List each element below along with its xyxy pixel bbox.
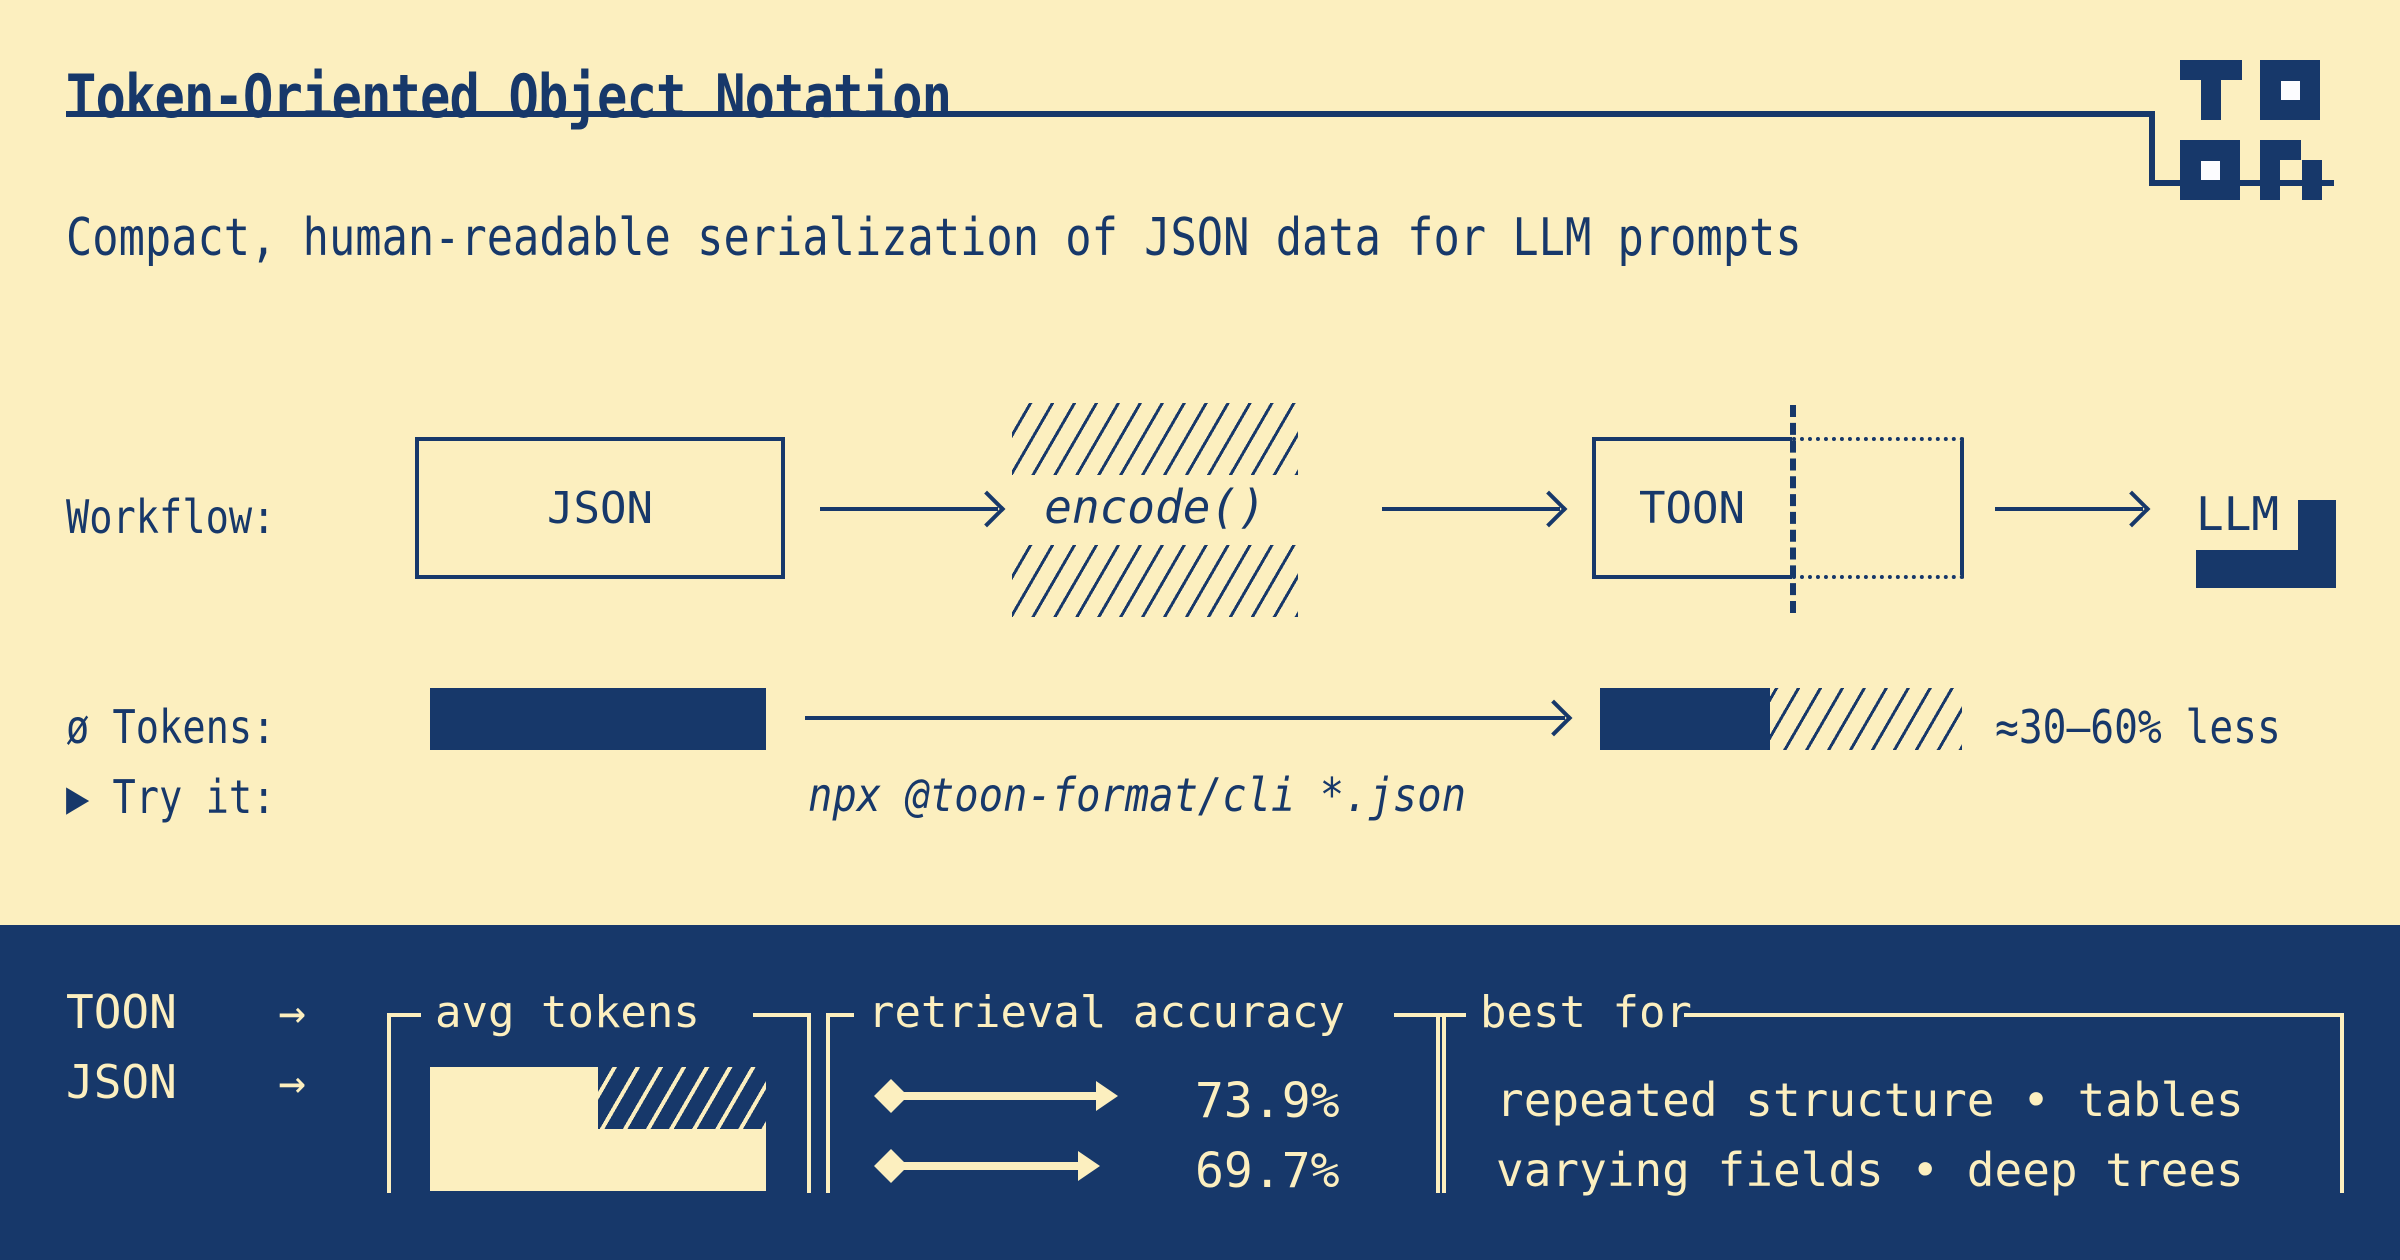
tokens-row-label: ø Tokens: [66,700,275,754]
workflow-arrow-2-icon [1382,507,1560,511]
try-command[interactable]: npx @toon-format/cli *.json [808,768,1466,822]
encode-hatch-top [1012,403,1298,475]
panel-row-name-toon: TOON [66,985,177,1039]
workflow-arrow-1-icon [820,507,998,511]
workflow-step-encode-label: encode() [1012,480,1298,534]
tokens-arrow-icon [805,716,1565,720]
best-for-caption: best for [1480,987,1692,1038]
try-row-label: ▶ Try it: [66,770,275,824]
retrieval-value-toon: 73.9% [1195,1073,1340,1129]
panel-row-label-toon: TOON → [66,985,306,1039]
avg-tokens-bar-toon-solid [430,1067,598,1129]
workflow-step-llm-label: LLM [2196,487,2279,541]
tokens-bar-toon-hatch [1770,688,1962,750]
poster-canvas: Token-Oriented Object Notation Compact, … [0,0,2400,1260]
workflow-step-json[interactable]: JSON [415,437,785,579]
retrieval-arrow-json-icon [892,1162,1082,1170]
panel-row-arrow-json-icon: → [278,1055,306,1109]
toon-logo [2180,60,2336,190]
avg-tokens-bar-json [430,1129,766,1191]
page-subtitle: Compact, human-readable serialization of… [66,208,1802,268]
logo-letter-n-icon [2260,140,2301,160]
best-for-line-1: repeated structure • tables [1496,1073,2244,1127]
panel-row-name-json: JSON [66,1055,177,1109]
retrieval-arrow-toon-icon [892,1092,1100,1100]
comparison-panel: TOON → JSON → avg tokens retrieva [0,925,2400,1260]
workflow-step-json-label: JSON [419,441,781,575]
workflow-label: Workflow: [66,490,275,544]
avg-tokens-bar-toon-hatch [598,1067,766,1129]
tokens-bar-toon-solid [1600,688,1770,750]
avg-tokens-caption: avg tokens [435,987,700,1038]
retrieval-value-json: 69.7% [1195,1143,1340,1199]
workflow-step-toon-label: TOON [1592,437,1792,579]
retrieval-accuracy-caption: retrieval accuracy [868,987,1345,1038]
logo-letter-t-icon [2180,60,2242,80]
tokens-bar-json [430,688,766,750]
panel-row-arrow-toon-icon: → [278,985,306,1039]
workflow-arrow-3-icon [1995,507,2143,511]
panel-row-label-json: JSON → [66,1055,306,1109]
workflow-step-toon-ghost [1792,437,1964,579]
encode-hatch-bottom [1012,545,1298,617]
best-for-line-2: varying fields • deep trees [1496,1143,2244,1197]
tokens-savings-label: ≈30–60% less [1995,700,2281,754]
